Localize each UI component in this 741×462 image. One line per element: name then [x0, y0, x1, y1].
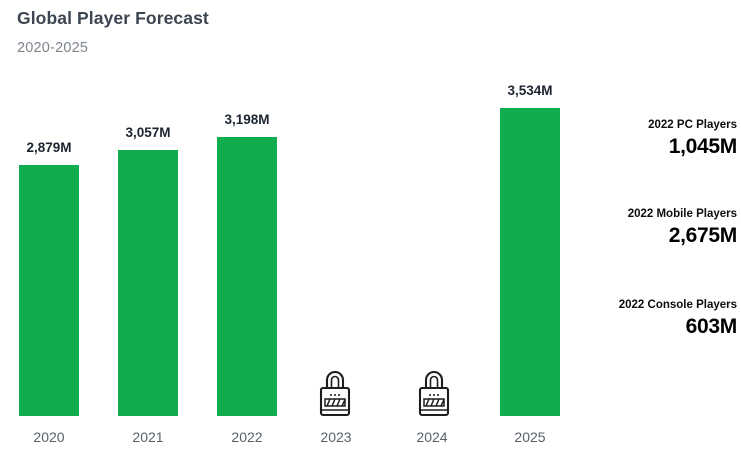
bar-value-2021: 3,057M — [108, 125, 188, 140]
bar-chart: 2,879M 3,057M 3,198M 3,534M — [0, 0, 600, 462]
stat-label-console: 2022 Console Players — [619, 298, 737, 312]
x-tick-2023: 2023 — [296, 429, 376, 445]
padlock-icon-2023[interactable] — [314, 366, 356, 462]
bar-value-2025: 3,534M — [490, 83, 570, 98]
stat-value-mobile: 2,675M — [628, 223, 737, 249]
bar-2020[interactable] — [19, 165, 79, 416]
chart-page: Global Player Forecast 2020-2025 2,879M … — [0, 0, 741, 462]
stat-label-mobile: 2022 Mobile Players — [628, 207, 737, 221]
bar-2025[interactable] — [500, 108, 560, 416]
x-tick-2024: 2024 — [392, 429, 472, 445]
x-tick-2025: 2025 — [490, 429, 570, 445]
x-tick-2020: 2020 — [9, 429, 89, 445]
bar-value-2022: 3,198M — [207, 112, 287, 127]
padlock-icon-2024[interactable] — [413, 366, 455, 462]
stat-pc-players: 2022 PC Players 1,045M — [648, 118, 737, 160]
stat-value-console: 603M — [619, 314, 737, 340]
stat-mobile-players: 2022 Mobile Players 2,675M — [628, 207, 737, 249]
bar-value-2020: 2,879M — [9, 140, 89, 155]
stat-console-players: 2022 Console Players 603M — [619, 298, 737, 340]
bar-2022[interactable] — [217, 137, 277, 416]
stat-label-pc: 2022 PC Players — [648, 118, 737, 132]
bar-2021[interactable] — [118, 150, 178, 416]
x-tick-2022: 2022 — [207, 429, 287, 445]
stats-panel: 2022 PC Players 1,045M 2022 Mobile Playe… — [596, 0, 741, 462]
stat-value-pc: 1,045M — [648, 134, 737, 160]
x-tick-2021: 2021 — [108, 429, 188, 445]
